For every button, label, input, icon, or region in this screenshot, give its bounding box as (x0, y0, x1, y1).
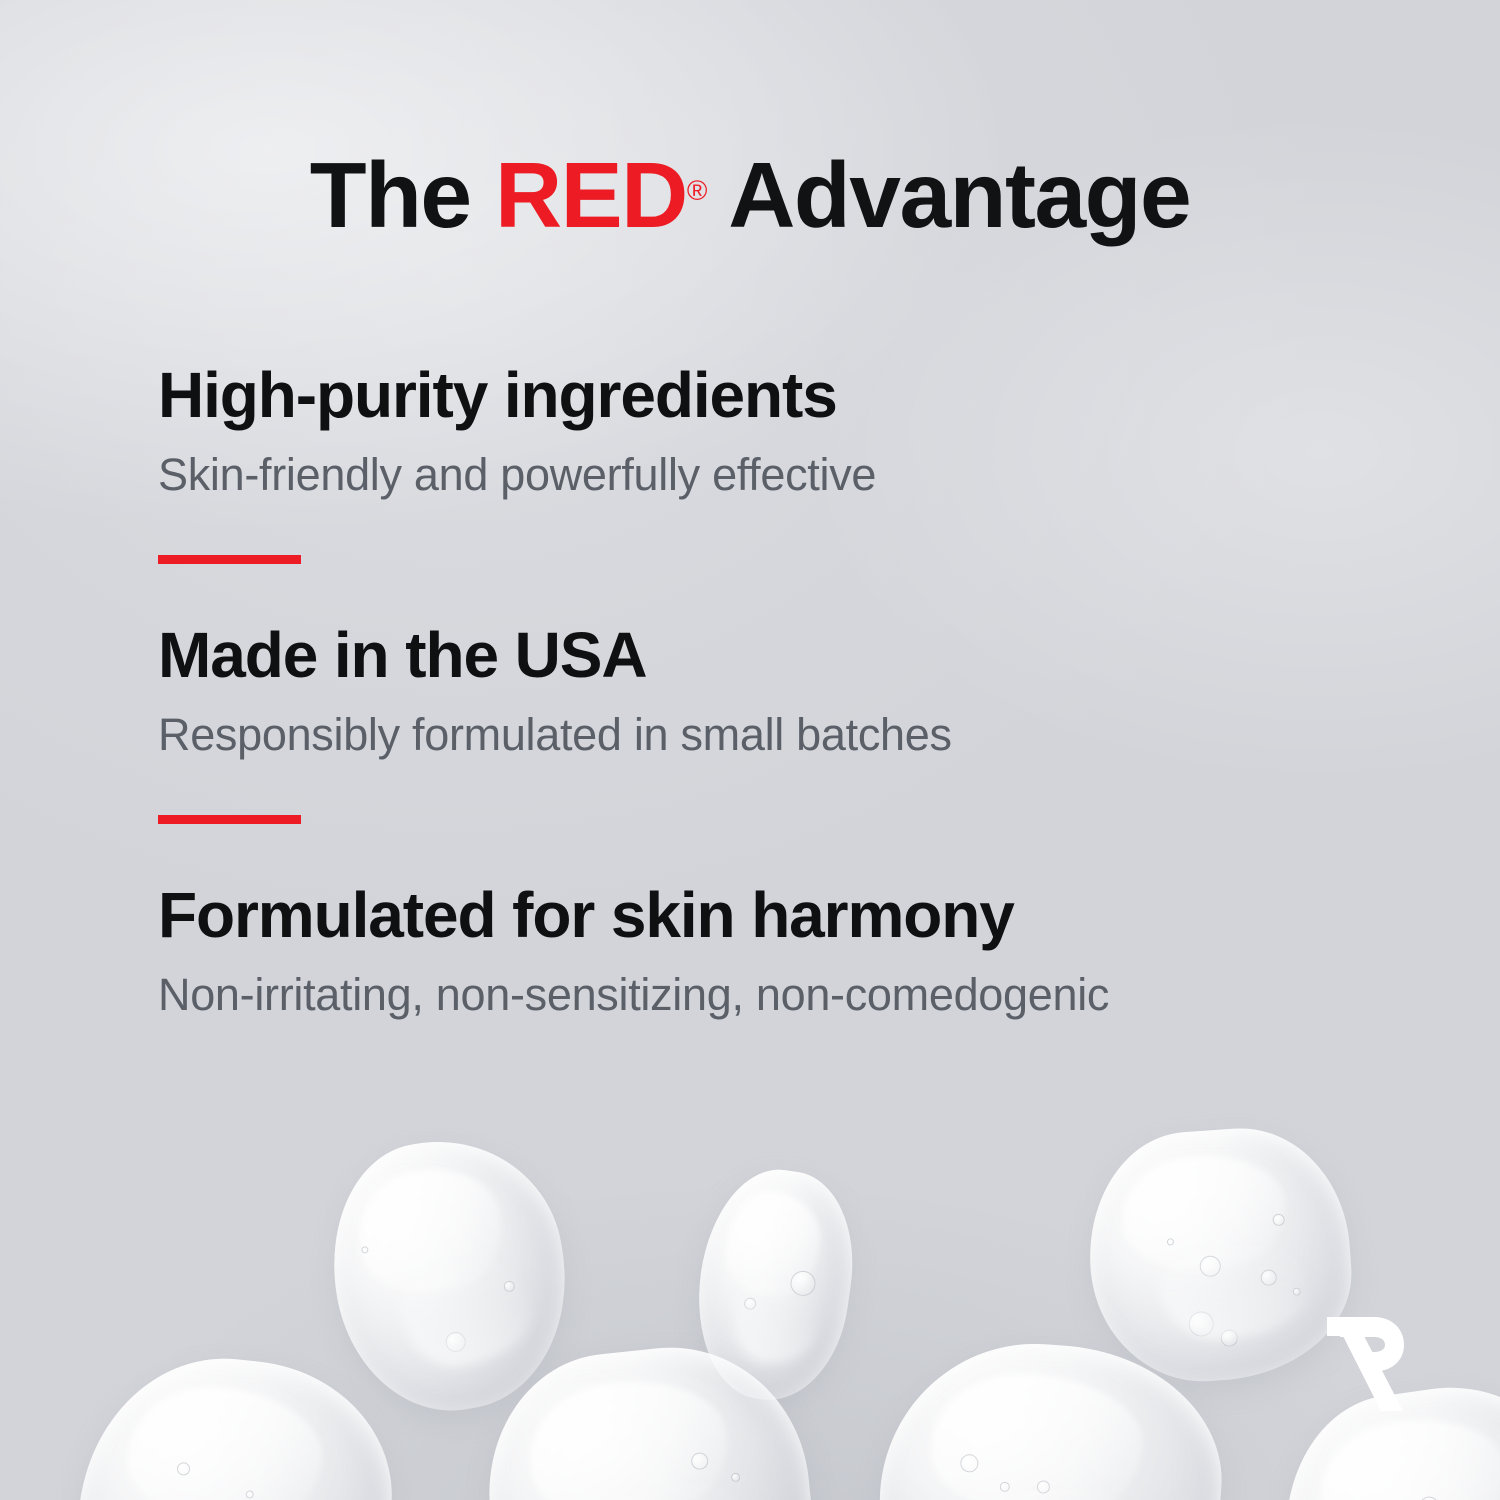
gel-blobs (0, 1060, 1500, 1500)
gel-bubble (960, 1453, 979, 1472)
gel-bubble (246, 1490, 255, 1499)
gel-bubble (1418, 1496, 1439, 1500)
gel-bubble (1188, 1311, 1215, 1338)
registered-trademark-icon: ® (687, 175, 708, 206)
gel-bubble (1199, 1255, 1221, 1277)
gel-blob (1082, 1121, 1359, 1389)
gel-bubble (1167, 1238, 1174, 1245)
feature-subtext: Responsibly formulated in small batches (158, 711, 1408, 760)
feature-item-1: High-purity ingredients Skin-friendly an… (158, 362, 1408, 499)
feature-item-3: Formulated for skin harmony Non-irritati… (158, 882, 1408, 1019)
gel-blob (65, 1345, 405, 1500)
feature-heading: High-purity ingredients (158, 362, 1408, 429)
gel-bubble (444, 1330, 467, 1353)
gel-blob (313, 1122, 586, 1428)
gel-bubble (1000, 1481, 1011, 1492)
feature-subtext: Non-irritating, non-sensitizing, non-com… (158, 971, 1408, 1020)
title-suffix: Advantage (707, 143, 1190, 247)
promo-canvas: The RED® Advantage High-purity ingredien… (0, 0, 1500, 1500)
feature-list: High-purity ingredients Skin-friendly an… (158, 362, 1408, 1019)
gel-bubble (1037, 1480, 1051, 1494)
gel-bubble (1260, 1269, 1277, 1286)
gel-bubble (743, 1297, 757, 1311)
brand-r-logo-icon (1324, 1314, 1410, 1414)
gel-blob (685, 1161, 866, 1410)
gel-bubble (176, 1462, 190, 1476)
gel-bubble (1272, 1213, 1285, 1226)
page-title: The RED® Advantage (0, 148, 1500, 243)
gel-bubble (361, 1246, 369, 1254)
gel-blob (870, 1334, 1231, 1500)
gel-bubble (690, 1452, 709, 1471)
feature-heading: Formulated for skin harmony (158, 882, 1408, 949)
title-prefix: The (310, 143, 495, 247)
feature-heading: Made in the USA (158, 622, 1408, 689)
title-brand: RED (495, 143, 687, 247)
feature-item-2: Made in the USA Responsibly formulated i… (158, 622, 1408, 759)
gel-bubble (731, 1472, 741, 1482)
gel-bubble (1220, 1329, 1238, 1347)
gel-bubble (503, 1280, 516, 1293)
divider-rule-1 (158, 555, 301, 564)
gel-bubble (789, 1269, 817, 1297)
feature-subtext: Skin-friendly and powerfully effective (158, 451, 1408, 500)
divider-rule-2 (158, 815, 301, 824)
gel-blob (475, 1334, 825, 1500)
gel-bubble (1293, 1287, 1302, 1296)
